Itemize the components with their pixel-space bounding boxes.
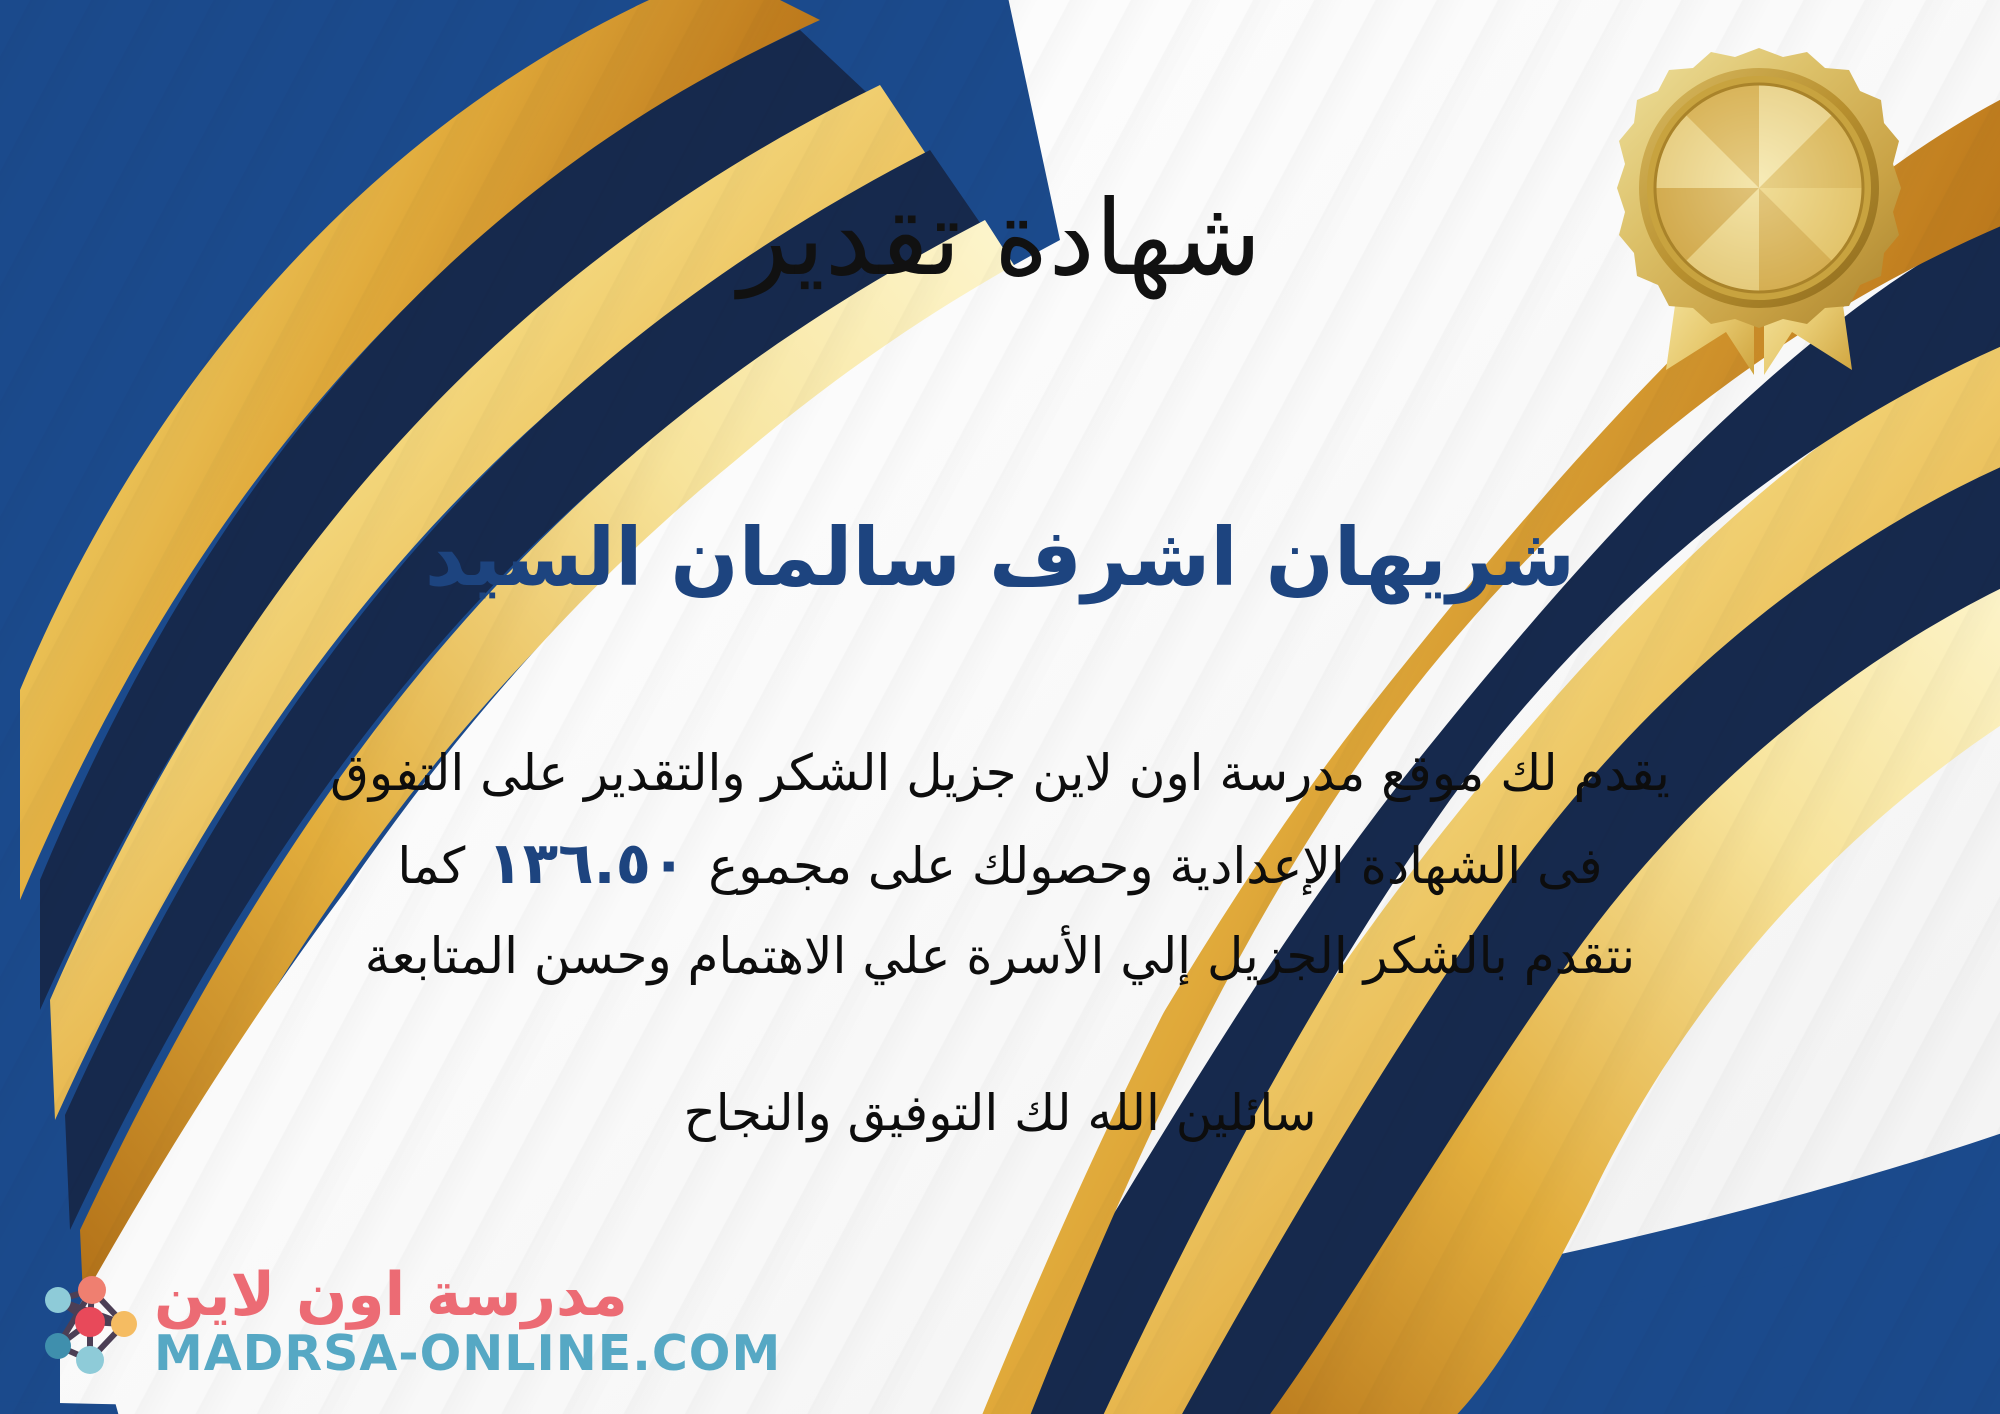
node-light-blue: [45, 1287, 71, 1313]
logo-text-column: مدرسة اون لاين MADRSA-ONLINE.COM: [154, 1264, 781, 1381]
logo-row: مدرسة اون لاين MADRSA-ONLINE.COM: [28, 1262, 781, 1382]
certificate-title: شهادة تقدير: [0, 176, 2000, 301]
grade-total-value: ١٣٦.٥٠: [465, 829, 708, 897]
node-red: [75, 1307, 105, 1337]
network-nodes-icon: [28, 1262, 148, 1382]
site-logo[interactable]: مدرسة اون لاين MADRSA-ONLINE.COM: [28, 1262, 781, 1382]
recipient-name: شريهان اشرف سالمان السيد: [0, 508, 2000, 608]
body-line-2: فى الشهادة الإعدادية وحصولك على مجموع١٣٦…: [60, 818, 1940, 911]
node-teal: [45, 1333, 71, 1359]
closing-line: سائلين الله لك التوفيق والنجاح: [0, 1080, 2000, 1148]
logo-website-url: MADRSA-ONLINE.COM: [154, 1327, 781, 1381]
certificate-page: شهادة تقدير شريهان اشرف سالمان السيد يقد…: [0, 0, 2000, 1414]
body-line-1: يقدم لك موقع مدرسة اون لاين جزيل الشكر و…: [60, 728, 1940, 818]
body-line-2-suffix: كما: [397, 837, 465, 895]
certificate-body: يقدم لك موقع مدرسة اون لاين جزيل الشكر و…: [60, 728, 1940, 1001]
body-line-2-prefix: فى الشهادة الإعدادية وحصولك على مجموع: [708, 837, 1602, 895]
node-orange: [111, 1311, 137, 1337]
node-light-teal: [76, 1346, 104, 1374]
body-line-3: نتقدم بالشكر الجزيل إلي الأسرة علي الاهت…: [60, 911, 1940, 1001]
node-salmon: [78, 1276, 106, 1304]
logo-arabic-name: مدرسة اون لاين: [154, 1264, 628, 1327]
